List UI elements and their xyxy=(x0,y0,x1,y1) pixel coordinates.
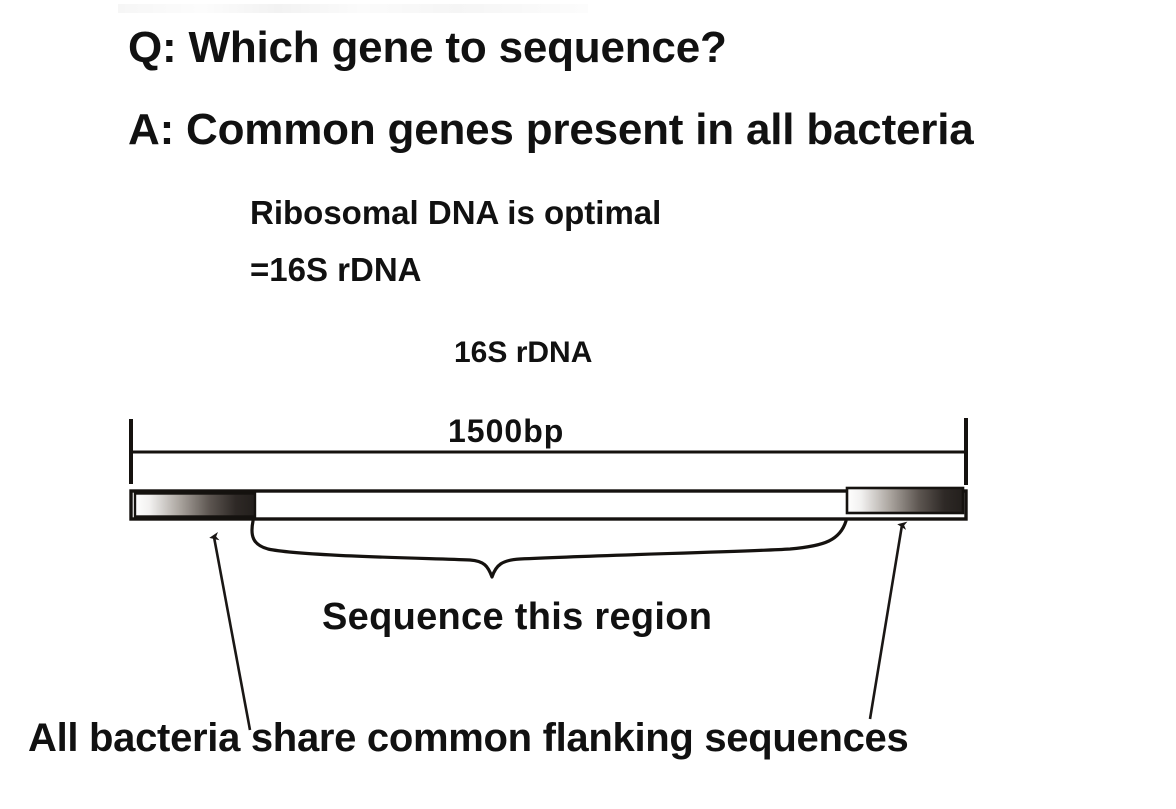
flanking-sequences-label: All bacteria share common flanking seque… xyxy=(28,718,908,758)
gene-bar-outline xyxy=(131,491,966,519)
scan-artifact xyxy=(118,4,588,13)
scale-length-label: 1500bp xyxy=(448,415,564,447)
right-flanking-arrow xyxy=(870,525,902,719)
slide-canvas: Q: Which gene to sequence? A: Common gen… xyxy=(0,0,1176,809)
gene-name-label: 16S rDNA xyxy=(454,338,592,368)
answer-heading: A: Common genes present in all bacteria xyxy=(128,108,974,152)
left-flanking-region xyxy=(135,494,255,517)
sequence-region-label: Sequence this region xyxy=(322,598,712,636)
subheading-line-1: Ribosomal DNA is optimal xyxy=(250,196,661,229)
subheading-line-2: =16S rDNA xyxy=(250,253,422,286)
question-heading: Q: Which gene to sequence? xyxy=(128,26,727,70)
left-flanking-arrow xyxy=(214,537,250,730)
sequence-region-brace xyxy=(252,521,846,577)
gene-bar-group xyxy=(131,488,966,519)
right-flanking-region xyxy=(847,488,963,513)
